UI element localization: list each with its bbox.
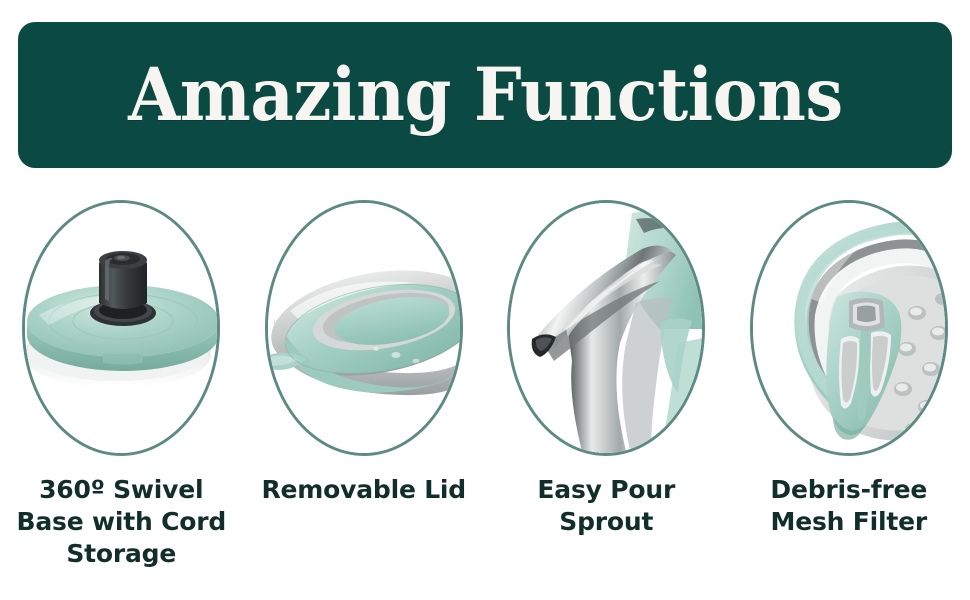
mesh-filter-illustration xyxy=(753,203,945,453)
feature-list: 360º Swivel Base with Cord Storage xyxy=(0,200,970,570)
pour-spout-photo-frame xyxy=(507,200,705,456)
swivel-base-photo-frame xyxy=(22,200,220,456)
feature-item-mesh-filter: Debris-free Mesh Filter xyxy=(728,200,970,570)
feature-item-pour-spout: Easy Pour Sprout xyxy=(485,200,728,570)
feature-caption-swivel-base: 360º Swivel Base with Cord Storage xyxy=(9,474,234,570)
pour-spout-illustration xyxy=(510,203,702,453)
feature-item-swivel-base: 360º Swivel Base with Cord Storage xyxy=(0,200,243,570)
mesh-filter-photo xyxy=(753,203,945,453)
swivel-base-photo xyxy=(25,203,217,453)
mesh-filter-photo-frame xyxy=(750,200,948,456)
feature-caption-removable-lid: Removable Lid xyxy=(251,474,476,506)
feature-item-removable-lid: Removable Lid xyxy=(243,200,486,570)
page-title: Amazing Functions xyxy=(128,59,843,132)
swivel-base-illustration xyxy=(25,203,217,453)
pour-spout-photo xyxy=(510,203,702,453)
removable-lid-photo xyxy=(268,203,460,453)
header-banner: Amazing Functions xyxy=(18,22,952,168)
feature-caption-mesh-filter: Debris-free Mesh Filter xyxy=(736,474,961,538)
removable-lid-photo-frame xyxy=(265,200,463,456)
feature-caption-pour-spout: Easy Pour Sprout xyxy=(494,474,719,538)
removable-lid-illustration xyxy=(268,203,460,453)
